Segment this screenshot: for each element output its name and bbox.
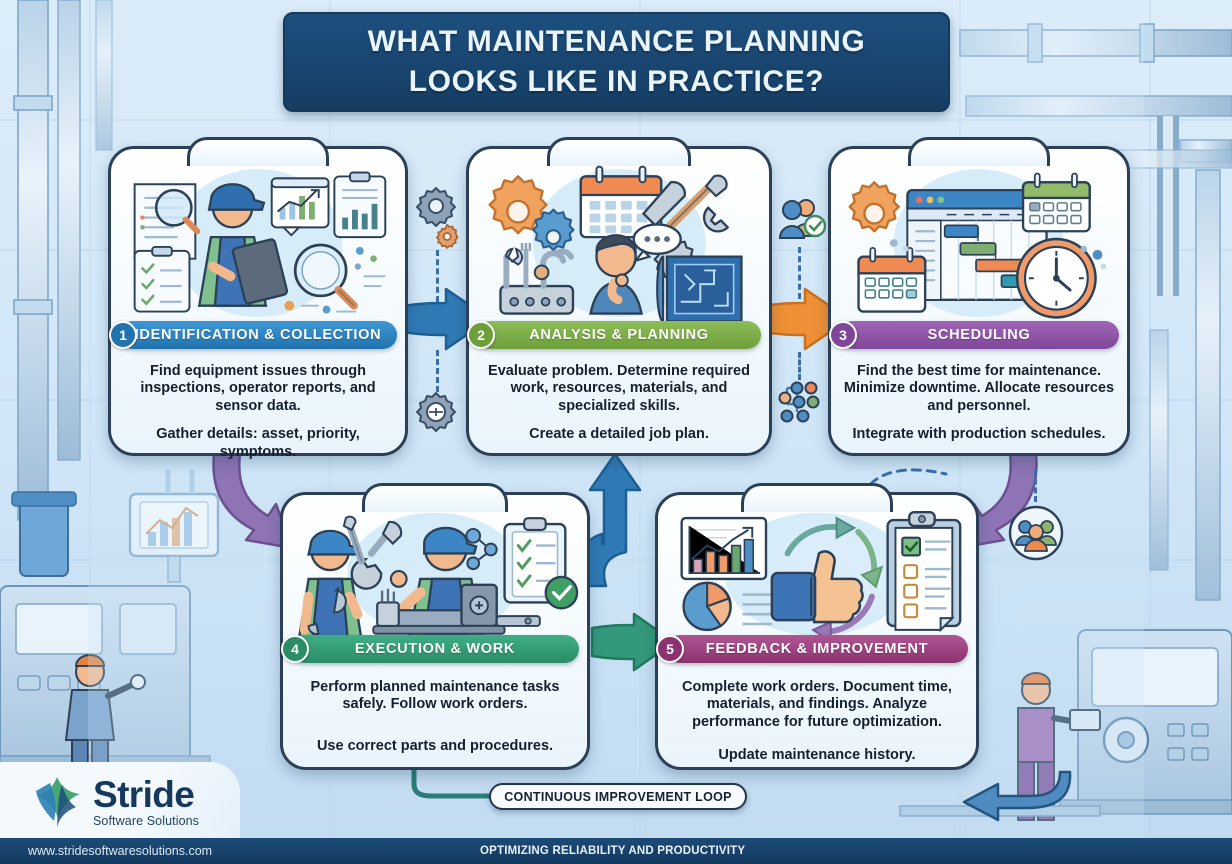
pie-chart-icon [684, 583, 782, 630]
growth-chart-icon [272, 178, 329, 235]
dashed-line-2 [436, 350, 439, 392]
calendar-orange-icon [859, 248, 926, 312]
dashed-line-1 [436, 250, 439, 302]
stride-logo-icon [28, 773, 86, 831]
arrow-loop-return [740, 762, 1070, 826]
step-2-illustration [475, 155, 763, 331]
title-line-1: WHAT MAINTENANCE PLANNING [368, 22, 866, 62]
step-2-paragraph-2: Create a detailed job plan. [479, 426, 759, 443]
brand-tagline: Software Solutions [93, 815, 199, 828]
step-2-ribbon: 2 ANALYSIS & PLANNING [477, 321, 761, 349]
gear-meter-icon [414, 390, 458, 434]
clipboard-checklist-icon [505, 518, 578, 608]
step-3-illustration [837, 155, 1121, 331]
magnifier-icon [295, 245, 354, 306]
step-card-2[interactable]: 2 ANALYSIS & PLANNING Evaluate problem. … [466, 146, 772, 456]
dashed-line-5 [1034, 470, 1037, 502]
footer-tagline: OPTIMIZING RELIABILITY AND PRODUCTIVITY [480, 845, 745, 857]
continuous-improvement-loop-badge: CONTINUOUS IMPROVEMENT LOOP [489, 783, 747, 810]
brand-logo-panel: Stride Software Solutions [0, 762, 240, 842]
step-4-paragraph-2: Use correct parts and procedures. [293, 738, 577, 755]
loop-label: CONTINUOUS IMPROVEMENT LOOP [504, 790, 732, 804]
step-2-number: 2 [467, 321, 495, 349]
small-gear-icon [436, 223, 462, 249]
thumbs-up-cycle-icon [772, 518, 884, 642]
step-card-1[interactable]: 1 IDENTIFICATION & COLLECTION Find equip… [108, 146, 408, 456]
step-3-paragraph-1: Find the best time for maintenance. Mini… [841, 363, 1117, 415]
step-2-body: Evaluate problem. Determine required wor… [479, 355, 759, 447]
step-5-body: Complete work orders. Document time, mat… [668, 671, 966, 761]
step-5-illustration [664, 501, 970, 647]
footer-url[interactable]: www.stridesoftwaresolutions.com [28, 844, 212, 858]
step-3-body: Find the best time for maintenance. Mini… [841, 355, 1117, 447]
step-card-3[interactable]: 3 SCHEDULING Find the best time for main… [828, 146, 1130, 456]
step-3-ribbon: 3 SCHEDULING [839, 321, 1119, 349]
team-circle-icon [1008, 505, 1064, 561]
step-3-number: 3 [829, 321, 857, 349]
dashed-line-4 [798, 352, 801, 380]
step-5-ribbon: 5 FEEDBACK & IMPROVEMENT [666, 635, 968, 663]
step-5-title: FEEDBACK & IMPROVEMENT [706, 641, 928, 657]
gear-icon [850, 182, 899, 231]
step-4-illustration [289, 501, 581, 647]
step-5-paragraph-2: Update maintenance history. [668, 747, 966, 764]
step-1-body: Find equipment issues through inspection… [121, 355, 395, 447]
step-card-5[interactable]: 5 FEEDBACK & IMPROVEMENT Complete work o… [655, 492, 979, 770]
step-4-number: 4 [281, 635, 309, 663]
blueprint-icon [657, 257, 741, 322]
step-5-number: 5 [656, 635, 684, 663]
title-line-2: LOOKS LIKE IN PRACTICE? [409, 62, 824, 102]
step-1-paragraph-2: Gather details: asset, priority, symptom… [121, 426, 395, 461]
clipboard-checklist-icon [888, 512, 961, 630]
step-4-paragraph-1: Perform planned maintenance tasks safely… [293, 679, 577, 714]
page-title: WHAT MAINTENANCE PLANNING LOOKS LIKE IN … [283, 12, 950, 112]
footer-bar: www.stridesoftwaresolutions.com OPTIMIZI… [0, 838, 1232, 864]
step-1-number: 1 [109, 321, 137, 349]
network-nodes-icon [775, 378, 825, 424]
bar-chart-clipboard-icon [334, 173, 385, 238]
step-3-paragraph-2: Integrate with production schedules. [841, 426, 1117, 443]
step-1-ribbon: 1 IDENTIFICATION & COLLECTION [119, 321, 397, 349]
gear-icon [415, 185, 457, 227]
calendar-green-icon [1023, 173, 1090, 231]
dashed-line-3 [798, 247, 801, 299]
bar-chart-icon [682, 518, 766, 579]
step-1-title: IDENTIFICATION & COLLECTION [135, 327, 382, 343]
technician-wrench-icon [299, 531, 362, 640]
step-1-illustration [117, 155, 399, 331]
step-2-paragraph-1: Evaluate problem. Determine required wor… [479, 363, 759, 415]
infographic-canvas: WHAT MAINTENANCE PLANNING LOOKS LIKE IN … [0, 0, 1232, 864]
clipboard-checklist-icon [135, 247, 190, 312]
people-check-icon [778, 196, 826, 240]
step-5-paragraph-1: Complete work orders. Document time, mat… [668, 679, 966, 731]
step-4-title: EXECUTION & WORK [355, 641, 515, 657]
toolbox-rack-icon [500, 243, 572, 314]
step-3-title: SCHEDULING [928, 327, 1031, 343]
step-4-body: Perform planned maintenance tasks safely… [293, 671, 577, 761]
step-4-ribbon: 4 EXECUTION & WORK [291, 635, 579, 663]
step-card-4[interactable]: 4 EXECUTION & WORK Perform planned maint… [280, 492, 590, 770]
brand-name: Stride [93, 776, 199, 813]
step-2-title: ANALYSIS & PLANNING [529, 327, 709, 343]
step-1-paragraph-1: Find equipment issues through inspection… [121, 363, 395, 415]
